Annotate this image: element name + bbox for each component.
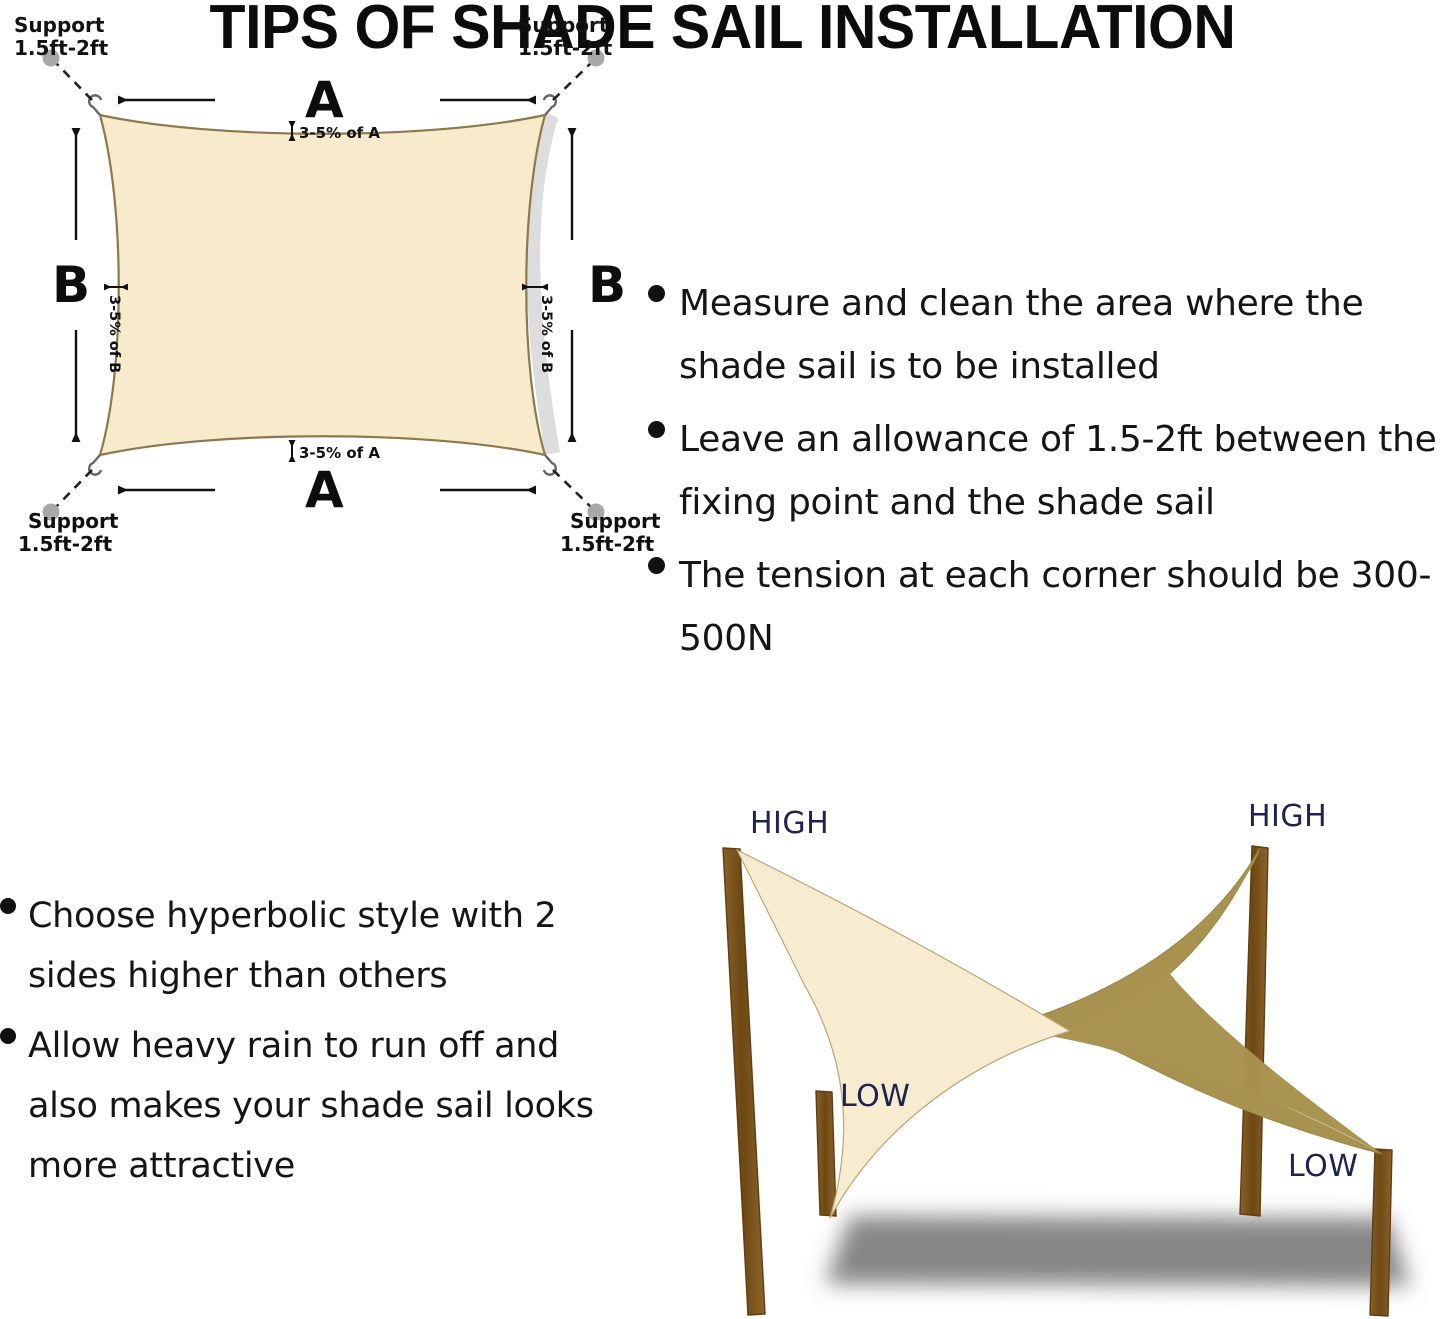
support-label-bottom-left: Support 1.5ft-2ft	[18, 509, 119, 556]
label-low-right: LOW	[1288, 1149, 1358, 1184]
list-item-label: Allow heavy rain to run off and also mak…	[28, 1016, 620, 1196]
bullet-icon	[0, 1028, 16, 1044]
label-low-left: LOW	[840, 1079, 910, 1114]
list-item-label: Leave an allowance of 1.5-2ft between th…	[679, 408, 1445, 534]
curve-depth-a-top: 3-5% of A	[292, 121, 380, 142]
list-item-label: Choose hyperbolic style with 2 sides hig…	[28, 886, 620, 1006]
support-label-line1: Support	[14, 13, 105, 37]
support-line-bottom-left	[55, 470, 92, 508]
support-label-top-right: Support 1.5ft-2ft	[518, 13, 613, 60]
list-item: Choose hyperbolic style with 2 sides hig…	[0, 886, 620, 1006]
support-label-line2: 1.5ft-2ft	[560, 532, 655, 556]
support-line-top-right	[553, 62, 592, 100]
list-item-label: Measure and clean the area where the sha…	[679, 272, 1445, 398]
shade-sail-dimension-diagram: Support 1.5ft-2ft Support 1.5ft-2ft Supp…	[0, 0, 660, 580]
support-label-line2: 1.5ft-2ft	[18, 532, 113, 556]
dimension-a-bottom: A	[118, 461, 536, 519]
label-high-right: HIGH	[1248, 799, 1327, 834]
sail-panel-dark	[1015, 848, 1382, 1154]
dimension-b-right: B	[572, 128, 626, 442]
tips-list-right: Measure and clean the area where the sha…	[648, 272, 1445, 680]
dimension-b-left: B	[52, 128, 90, 442]
sail-shape	[100, 115, 545, 455]
dimension-b-label: B	[588, 256, 626, 314]
support-label-line1: Support	[28, 509, 119, 533]
support-label-top-left: Support 1.5ft-2ft	[14, 13, 109, 60]
list-item: Measure and clean the area where the sha…	[648, 272, 1445, 398]
support-label-bottom-right: Support 1.5ft-2ft	[560, 509, 661, 556]
bullet-icon	[648, 557, 665, 574]
support-label-line2: 1.5ft-2ft	[518, 36, 613, 60]
dimension-a-label: A	[305, 71, 344, 129]
curve-depth-b-label: 3-5% of B	[538, 295, 554, 373]
sail-panel-light	[737, 850, 1070, 1218]
support-label-line2: 1.5ft-2ft	[14, 36, 109, 60]
post-low-right	[1370, 1149, 1392, 1316]
tips-list-bottom: Choose hyperbolic style with 2 sides hig…	[0, 886, 620, 1206]
curve-depth-a-label: 3-5% of A	[299, 444, 380, 462]
curve-depth-a-label: 3-5% of A	[299, 124, 380, 142]
support-label-line1: Support	[518, 13, 609, 37]
dimension-a-top: A	[118, 71, 536, 129]
bullet-icon	[0, 898, 16, 914]
bullet-icon	[648, 285, 665, 302]
curve-depth-b-label: 3-5% of B	[106, 295, 122, 373]
post-high-right	[1240, 846, 1268, 1216]
curve-depth-a-bottom: 3-5% of A	[292, 440, 380, 462]
ground-shadow	[825, 1216, 1410, 1286]
hyperbolic-sail-illustration: HIGH HIGH LOW LOW	[640, 786, 1445, 1319]
post-high-left	[723, 848, 765, 1315]
support-line-bottom-right	[553, 470, 592, 508]
list-item: Leave an allowance of 1.5-2ft between th…	[648, 408, 1445, 534]
list-item: Allow heavy rain to run off and also mak…	[0, 1016, 620, 1196]
dimension-b-label: B	[52, 256, 90, 314]
support-line-top-left	[55, 62, 92, 100]
label-high-left: HIGH	[750, 806, 829, 841]
list-item-label: The tension at each corner should be 300…	[679, 544, 1445, 670]
list-item: The tension at each corner should be 300…	[648, 544, 1445, 670]
dimension-a-label: A	[305, 461, 344, 519]
bullet-icon	[648, 421, 665, 438]
